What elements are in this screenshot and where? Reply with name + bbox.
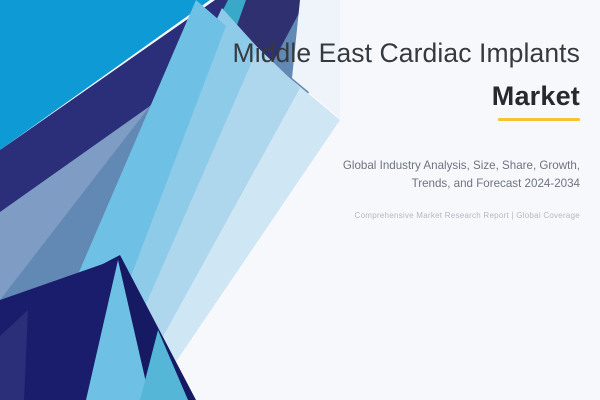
- subtitle-line-2: Trends, and Forecast 2024-2034: [200, 175, 580, 193]
- tagline: Comprehensive Market Research Report | G…: [200, 211, 580, 220]
- page-title: Middle East Cardiac Implants: [200, 38, 580, 69]
- title-accent-word: Market: [492, 81, 580, 112]
- subtitle: Global Industry Analysis, Size, Share, G…: [200, 157, 580, 193]
- title-accent-rule: [498, 118, 580, 121]
- subtitle-line-1: Global Industry Analysis, Size, Share, G…: [200, 157, 580, 175]
- cover-text-block: Middle East Cardiac Implants Market Glob…: [200, 38, 580, 220]
- report-cover: Middle East Cardiac Implants Market Glob…: [0, 0, 600, 400]
- title-accent-wrap: Market: [200, 81, 580, 121]
